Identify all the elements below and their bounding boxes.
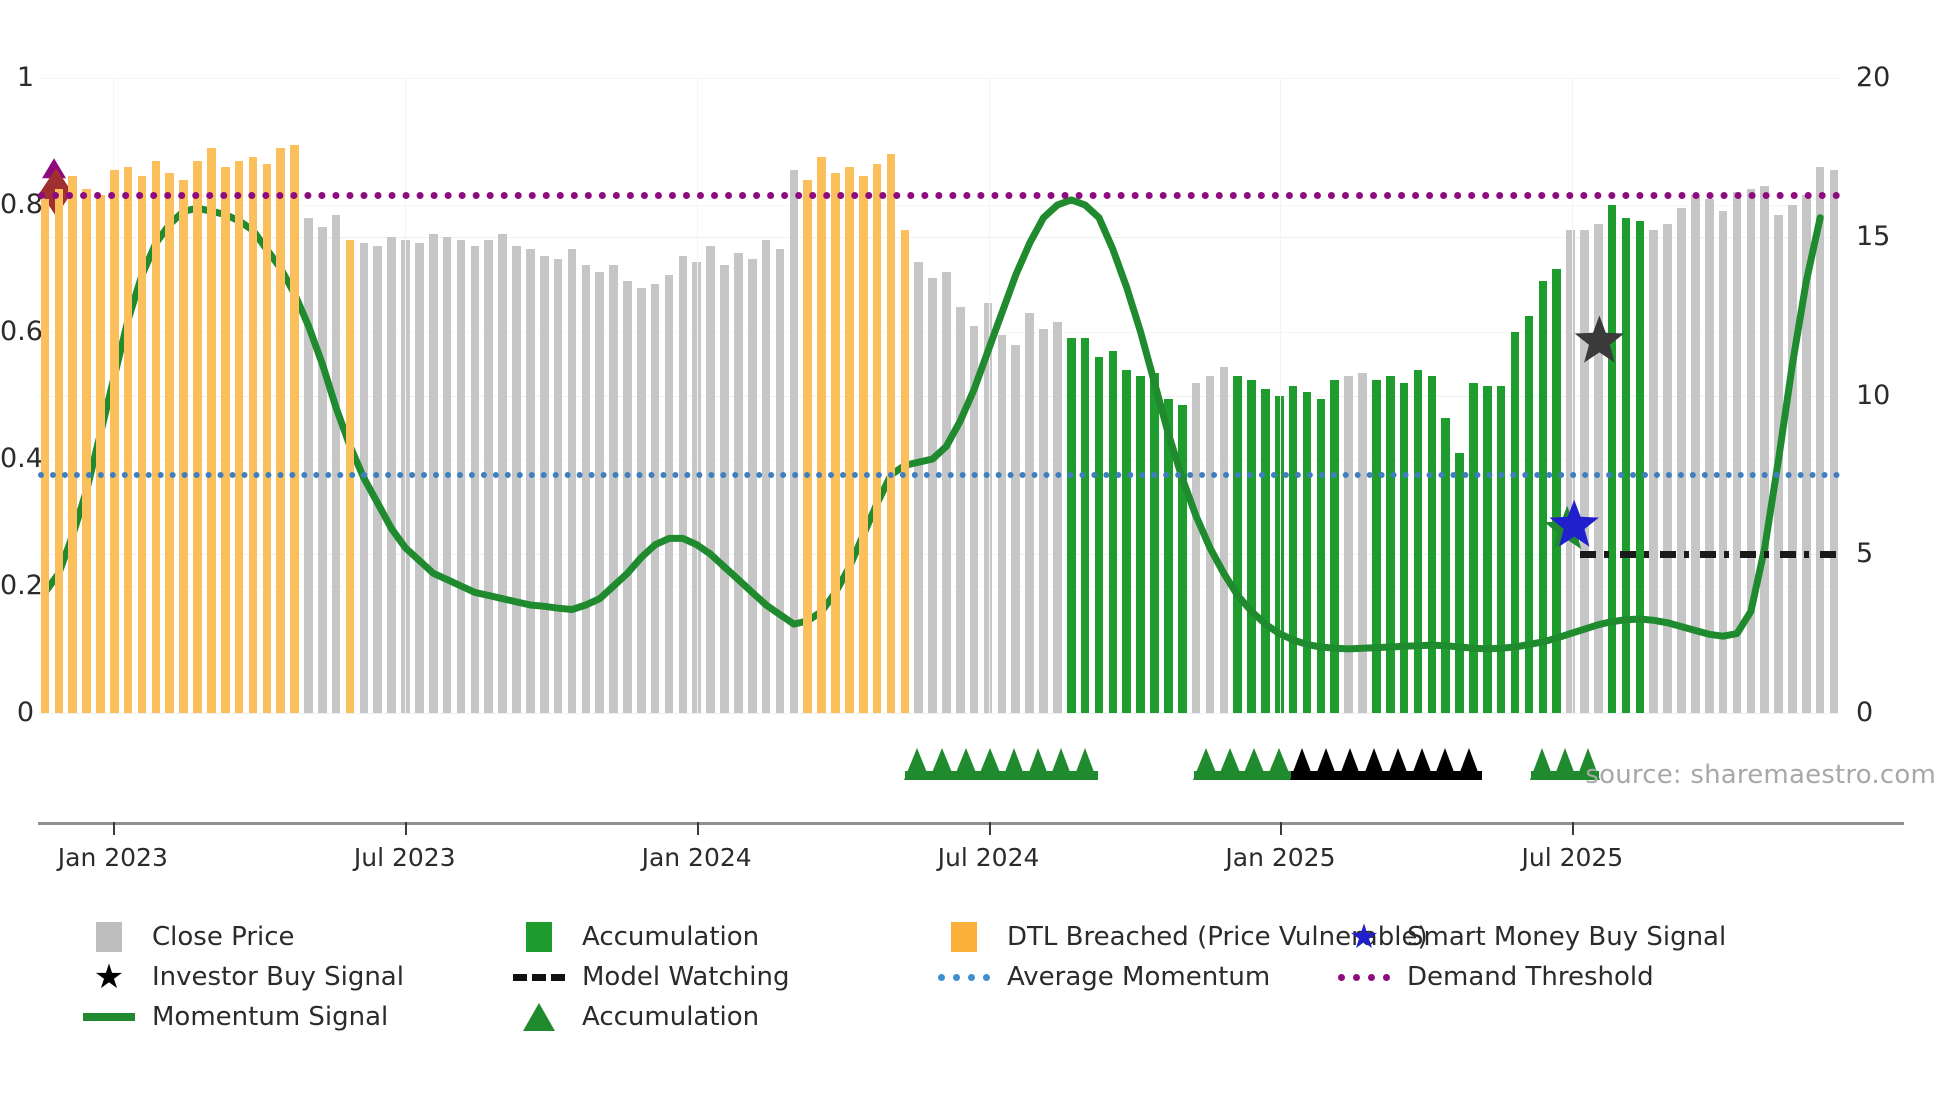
price-bar	[1109, 351, 1118, 713]
accumulation-triangle-base	[1291, 771, 1482, 780]
dtl-breached-band-bar	[68, 176, 77, 713]
plot-inner	[38, 78, 1841, 713]
price-bar	[1372, 380, 1381, 713]
x-axis-tick-label: Jan 2024	[642, 843, 752, 872]
gridline	[38, 205, 1841, 206]
square-icon	[526, 922, 552, 952]
dtl-breached-band-bar	[165, 173, 174, 713]
legend-item-close-price-swatch[interactable]: Close Price	[80, 918, 295, 956]
price-bar	[1636, 221, 1645, 713]
gridline	[38, 713, 1841, 714]
price-bar	[942, 272, 951, 713]
price-bar	[914, 262, 923, 713]
price-bar	[471, 246, 480, 713]
accumulation-triangle-base	[1194, 771, 1291, 780]
dotted-line-icon	[1338, 974, 1390, 981]
price-bar	[679, 256, 688, 713]
dtl-breached-band-bar	[290, 145, 299, 713]
price-bar	[1053, 322, 1062, 713]
legend-row: ★Investor Buy SignalModel WatchingAverag…	[80, 958, 1930, 996]
y-axis-right-tick-label: 20	[1856, 64, 1890, 91]
price-bar	[568, 249, 577, 713]
price-bar	[1330, 380, 1339, 713]
dtl-breached-band-bar	[221, 167, 230, 713]
source-attribution: source: sharemaestro.com	[1585, 760, 1936, 790]
price-bar	[554, 259, 563, 713]
legend-item-label: Investor Buy Signal	[152, 962, 404, 992]
price-bar	[748, 259, 757, 713]
price-bar	[415, 243, 424, 713]
price-bar	[1233, 376, 1242, 713]
dtl-breached-band-bar	[803, 180, 812, 713]
price-bar	[1150, 373, 1159, 713]
legend-row: Momentum SignalAccumulation	[80, 998, 1930, 1036]
legend-item-average-momentum-swatch[interactable]: Average Momentum	[935, 958, 1270, 996]
price-bar	[318, 227, 327, 713]
dotted-line-icon	[938, 974, 990, 981]
price-bar	[1663, 224, 1672, 713]
price-bar	[665, 275, 674, 713]
price-bar	[637, 288, 646, 713]
dtl-breached-band-bar	[845, 167, 854, 713]
price-bar	[1455, 453, 1464, 713]
price-bar	[776, 249, 785, 713]
price-bar	[1025, 313, 1034, 713]
x-axis-tick-label: Jan 2025	[1225, 843, 1335, 872]
legend-item-smart-money-swatch[interactable]: ★Smart Money Buy Signal	[1335, 918, 1726, 956]
legend-item-label: Average Momentum	[1007, 962, 1270, 992]
dtl-breached-band-bar	[207, 148, 216, 713]
dtl-breached-band-bar	[831, 173, 840, 713]
legend-item-label: Close Price	[152, 922, 295, 952]
price-bar	[1192, 383, 1201, 713]
y-axis-left-tick-label: 0.6	[0, 318, 34, 345]
y-axis-right-tick-label: 15	[1856, 223, 1890, 250]
x-axis-tick-label: Jul 2023	[354, 843, 456, 872]
model-watching-line	[1580, 551, 1841, 558]
price-bar	[1830, 170, 1839, 713]
price-bar	[1303, 392, 1312, 713]
price-bar	[1760, 186, 1769, 713]
price-bar	[1289, 386, 1298, 713]
square-icon	[951, 922, 977, 952]
price-bar	[1164, 399, 1173, 713]
price-bar	[1039, 329, 1048, 713]
price-bar	[332, 215, 341, 713]
price-bar	[1469, 383, 1478, 713]
y-axis-left-tick-label: 0	[0, 699, 34, 726]
vertical-gridline	[697, 78, 698, 713]
price-bar	[623, 281, 632, 713]
price-bar	[1483, 386, 1492, 713]
price-bar	[1095, 357, 1104, 713]
price-bar	[304, 218, 313, 713]
price-bar	[1497, 386, 1506, 713]
price-bar	[1414, 370, 1423, 713]
price-bar	[1525, 316, 1534, 713]
x-axis-tickmark	[405, 822, 407, 835]
x-axis-tick-label: Jul 2025	[1521, 843, 1623, 872]
price-bar	[1220, 367, 1229, 713]
x-axis-tickmark	[697, 822, 699, 835]
price-bar	[1428, 376, 1437, 713]
price-bar	[360, 243, 369, 713]
price-bar	[1719, 211, 1728, 713]
dashed-line-icon	[513, 974, 565, 981]
price-bar	[1802, 195, 1811, 713]
gridline	[38, 78, 1841, 79]
price-bar	[790, 170, 799, 713]
price-bar	[1539, 281, 1548, 713]
x-axis-tick-label: Jul 2024	[938, 843, 1040, 872]
dtl-breached-band-bar	[96, 195, 105, 713]
dtl-breached-band-bar	[82, 189, 91, 713]
legend-item-momentum-signal-swatch[interactable]: Momentum Signal	[80, 998, 388, 1036]
vertical-gridline	[1280, 78, 1281, 713]
legend-item-label: Accumulation	[582, 922, 759, 952]
x-axis-tickmark	[113, 822, 115, 835]
price-bar	[540, 256, 549, 713]
dtl-breached-band-bar	[873, 164, 882, 713]
price-bar	[1552, 269, 1561, 714]
dtl-breached-band-bar	[887, 154, 896, 713]
dtl-breached-band-bar	[152, 161, 161, 713]
legend-item-accumulation-tri-swatch[interactable]: Accumulation	[510, 998, 759, 1036]
price-bar	[1677, 208, 1686, 713]
vertical-gridline	[989, 78, 990, 713]
vertical-gridline	[405, 78, 406, 713]
price-bar	[609, 265, 618, 713]
price-bar	[1441, 418, 1450, 713]
price-bar	[1608, 205, 1617, 713]
x-axis-tickmark	[1572, 822, 1574, 835]
y-axis-left-tick-label: 1	[0, 64, 34, 91]
chart-canvas: 00.20.40.60.81 05101520 Jan 2023Jul 2023…	[0, 0, 1960, 1102]
dtl-breached-band-bar	[110, 170, 119, 713]
price-bar	[512, 246, 521, 713]
plot-area	[38, 78, 1841, 713]
dtl-breached-band-bar	[41, 199, 50, 713]
star-icon: ★	[1349, 920, 1379, 954]
y-axis-left-tick-label: 0.8	[0, 191, 34, 218]
price-bar	[582, 265, 591, 713]
legend-item-label: Smart Money Buy Signal	[1407, 922, 1726, 952]
legend-item-label: Model Watching	[582, 962, 789, 992]
legend-item-accumulation-bar-swatch[interactable]: Accumulation	[510, 918, 759, 956]
dtl-breached-band-bar	[263, 164, 272, 713]
legend-item-demand-threshold-swatch[interactable]: Demand Threshold	[1335, 958, 1654, 996]
dtl-breached-band-bar	[124, 167, 133, 713]
y-axis-right-tick-label: 0	[1856, 699, 1873, 726]
price-bar	[1081, 338, 1090, 713]
price-bar	[1705, 199, 1714, 713]
price-bar	[1747, 189, 1756, 713]
price-bar	[1400, 383, 1409, 713]
price-bar	[1247, 380, 1256, 713]
price-bar	[1733, 192, 1742, 713]
demand-threshold-line	[38, 192, 1841, 199]
price-bar	[1511, 332, 1520, 713]
chart-legend: Close PriceAccumulationDTL Breached (Pri…	[80, 918, 1930, 1038]
x-axis-tickmark	[989, 822, 991, 835]
price-bar	[1178, 405, 1187, 713]
price-bar	[1275, 396, 1284, 714]
price-bar	[1622, 218, 1631, 713]
legend-item-label: Demand Threshold	[1407, 962, 1654, 992]
dtl-breached-band-bar	[179, 180, 188, 713]
x-axis-tick-label: Jan 2023	[58, 843, 168, 872]
star-icon: ★	[94, 960, 124, 994]
price-bar	[1788, 205, 1797, 713]
dtl-breached-band-bar	[276, 148, 285, 713]
dtl-breached-band-bar	[249, 157, 258, 713]
legend-item-label: Momentum Signal	[152, 1002, 388, 1032]
y-axis-right-tick-label: 10	[1856, 382, 1890, 409]
price-bar	[1344, 376, 1353, 713]
price-bar	[928, 278, 937, 713]
price-bar	[1358, 373, 1367, 713]
price-bar	[526, 249, 535, 713]
square-icon	[96, 922, 122, 952]
dtl-breached-band-bar	[193, 161, 202, 713]
accumulation-triangle-base	[905, 771, 1002, 780]
price-bar	[1067, 338, 1076, 713]
average-momentum-line	[38, 472, 1841, 478]
dtl-breached-band-bar	[55, 189, 64, 713]
price-bar	[970, 326, 979, 713]
dtl-breached-band-bar	[817, 157, 826, 713]
price-bar	[651, 284, 660, 713]
dtl-breached-band-bar	[138, 176, 147, 713]
price-bar	[706, 246, 715, 713]
legend-item-investor-buy-swatch[interactable]: ★Investor Buy Signal	[80, 958, 404, 996]
y-axis-left-tick-label: 0.2	[0, 572, 34, 599]
y-axis-left-tick-label: 0.4	[0, 445, 34, 472]
dtl-breached-band-bar	[235, 161, 244, 713]
legend-item-label: Accumulation	[582, 1002, 759, 1032]
price-bar	[1386, 376, 1395, 713]
x-axis-line	[38, 822, 1904, 825]
dtl-breached-band-bar	[859, 176, 868, 713]
price-bar	[998, 335, 1007, 713]
price-bar	[595, 272, 604, 713]
price-bar	[734, 253, 743, 713]
price-bar	[1816, 167, 1825, 713]
price-bar	[956, 307, 965, 713]
price-bar	[1206, 376, 1215, 713]
price-bar	[720, 265, 729, 713]
legend-item-model-watching-swatch[interactable]: Model Watching	[510, 958, 789, 996]
y-axis-right-tick-label: 5	[1856, 540, 1873, 567]
x-axis-tickmark	[1280, 822, 1282, 835]
price-bar	[1317, 399, 1326, 713]
price-bar	[1136, 376, 1145, 713]
price-bar	[1261, 389, 1270, 713]
price-bar	[1594, 224, 1603, 713]
price-bar	[373, 246, 382, 713]
accumulation-triangle-base	[1003, 771, 1099, 780]
solid-line-icon	[83, 1013, 135, 1021]
price-bar	[1011, 345, 1020, 713]
price-bar	[1122, 370, 1131, 713]
triangle-icon	[523, 1003, 555, 1031]
price-bar	[1774, 215, 1783, 713]
legend-row: Close PriceAccumulationDTL Breached (Pri…	[80, 918, 1930, 956]
vertical-gridline	[1572, 78, 1573, 713]
price-bar	[1691, 195, 1700, 713]
